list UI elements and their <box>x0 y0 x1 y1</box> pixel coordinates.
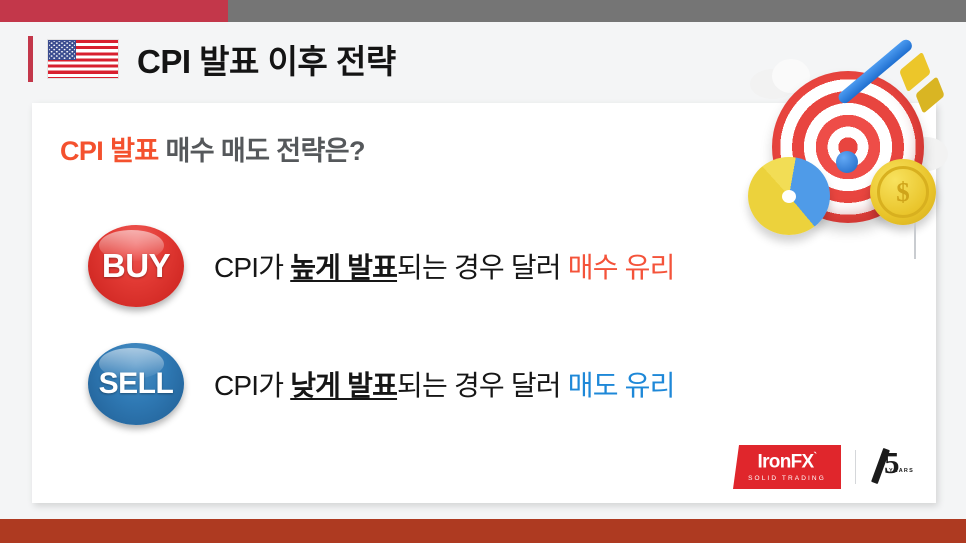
buy-text-mid: 되는 경우 달러 <box>397 252 568 283</box>
buy-badge-label: BUY <box>102 247 170 285</box>
pie-chart-icon <box>748 157 830 235</box>
coin-symbol: $ <box>877 166 929 218</box>
title-accent-bar <box>28 36 33 82</box>
ironfx-logo: IronFX` SOLID TRADING <box>733 445 841 489</box>
buy-row-text: CPI가 높게 발표되는 경우 달러 매수 유리 <box>214 246 675 286</box>
top-bar-red-segment <box>0 0 228 22</box>
pin-stem <box>914 223 916 259</box>
ironfx-logo-tagline: SOLID TRADING <box>748 475 826 482</box>
content-card: CPI 발표 매수 매도 전략은? $ BUY CPI가 높게 발표되는 경우 … <box>32 103 936 503</box>
sell-badge[interactable]: SELL <box>88 343 184 425</box>
sell-text-accent: 매도 유리 <box>568 370 675 401</box>
ironfx-logo-name: IronFX` <box>758 452 817 471</box>
buy-text-emphasis: 높게 발표 <box>290 252 397 283</box>
dartboard-arrow-pie-coin-illustration: $ <box>728 55 944 260</box>
logo-divider <box>855 450 856 484</box>
subtitle-rest: 매수 매도 전략은? <box>159 136 365 166</box>
top-bar <box>0 0 966 22</box>
page-title: CPI 발표 이후 전략 <box>137 35 396 83</box>
subtitle-highlight: CPI 발표 <box>60 136 159 166</box>
sell-text-lead: CPI가 <box>214 370 290 401</box>
sell-text-mid: 되는 경우 달러 <box>397 370 568 401</box>
strategy-row-buy: BUY CPI가 높게 발표되는 경우 달러 매수 유리 <box>88 225 675 307</box>
sell-text-emphasis: 낮게 발표 <box>290 370 397 401</box>
us-flag-icon <box>47 39 119 79</box>
sell-badge-label: SELL <box>99 367 174 401</box>
strategy-row-sell: SELL CPI가 낮게 발표되는 경우 달러 매도 유리 <box>88 343 675 425</box>
arrow-tip-icon <box>836 151 858 173</box>
card-subtitle: CPI 발표 매수 매도 전략은? <box>60 129 365 168</box>
slide-header: CPI 발표 이후 전략 <box>28 34 396 84</box>
sell-row-text: CPI가 낮게 발표되는 경우 달러 매도 유리 <box>214 364 675 404</box>
bottom-bar <box>0 519 966 543</box>
anniversary-15-years-icon: 5 YEARS <box>870 446 918 488</box>
buy-text-lead: CPI가 <box>214 252 290 283</box>
buy-text-accent: 매수 유리 <box>568 252 675 283</box>
ironfx-logo-mark: ` <box>814 451 817 463</box>
brand-logo: IronFX` SOLID TRADING 5 YEARS <box>733 445 918 489</box>
anniversary-label: YEARS <box>889 468 914 474</box>
ironfx-logo-wordmark: IronFX <box>758 452 814 473</box>
top-bar-gray-segment <box>228 0 966 22</box>
buy-badge[interactable]: BUY <box>88 225 184 307</box>
dollar-coin-icon: $ <box>870 159 936 225</box>
